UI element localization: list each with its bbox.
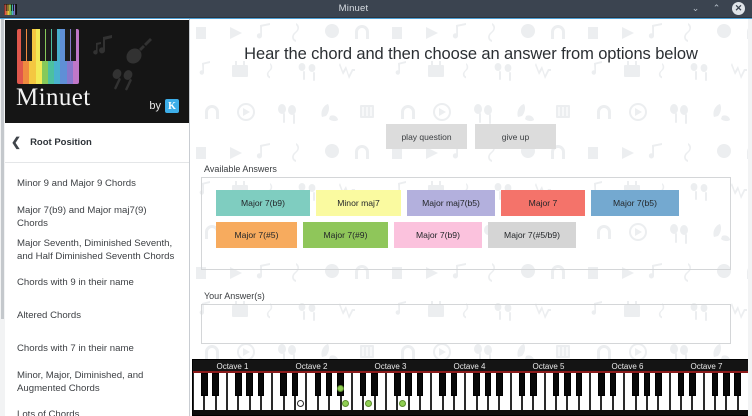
piano-black-key-G#4[interactable]: [485, 373, 492, 396]
piano-black-key-G#2[interactable]: [326, 373, 333, 396]
window-titlebar: Minuet ⌄ ⌃ ✕: [0, 0, 752, 18]
piano-black-key-C#5[interactable]: [519, 373, 526, 396]
piano-black-key-A#6[interactable]: [655, 373, 662, 396]
sidebar-item-label: Major 7(b9) and Major maj7(9) Chords: [17, 204, 178, 230]
octave-label-2: Octave 2: [272, 361, 351, 372]
piano-note-marker-E2: [297, 400, 304, 407]
answer-option-major-7-b5[interactable]: Major 7(b5): [591, 190, 679, 216]
answer-option-major-7-sharp5[interactable]: Major 7(#5): [216, 222, 297, 248]
octave-label-6: Octave 6: [588, 361, 667, 372]
piano-black-key-C#2[interactable]: [280, 373, 287, 396]
answer-option-major-7-b9[interactable]: Major 7(b9): [216, 190, 310, 216]
sidebar-item-label: Major Seventh, Diminished Seventh, and H…: [17, 237, 178, 263]
your-answers-label: Your Answer(s): [204, 291, 265, 301]
sidebar-logo-header: Minuet by K: [5, 20, 189, 123]
piano-black-key-C#6[interactable]: [598, 373, 605, 396]
sidebar-item-minor-major-dim-aug[interactable]: Minor, Major, Diminished, and Augmented …: [5, 365, 190, 398]
breadcrumb-label: Root Position: [30, 137, 92, 148]
piano-note-marker-G3: [399, 400, 406, 407]
sidebar-item-chords-with-9[interactable]: Chords with 9 in their name: [5, 266, 190, 299]
sidebar-item-lots-of-chords[interactable]: Lots of Chords: [5, 398, 190, 416]
answer-option-major-7[interactable]: Major 7: [501, 190, 585, 216]
answer-option-major-7-sharp9[interactable]: Major 7(#9): [303, 222, 388, 248]
piano-black-key-F#2[interactable]: [315, 373, 322, 396]
sidebar-item-label: Chords with 7 in their name: [17, 342, 134, 355]
sidebar-item-label: Lots of Chords: [17, 408, 79, 416]
by-kde-credit: by K: [149, 99, 179, 113]
your-answers-value: [202, 305, 730, 317]
piano-black-key-D#5[interactable]: [530, 373, 537, 396]
piano-black-key-F#1[interactable]: [235, 373, 242, 396]
piano-black-key-C#3[interactable]: [360, 373, 367, 396]
play-question-button[interactable]: play question: [386, 124, 467, 149]
piano-black-key-G#3[interactable]: [405, 373, 412, 396]
piano-black-key-D#7[interactable]: [689, 373, 696, 396]
piano-black-key-D#6[interactable]: [610, 373, 617, 396]
piano-black-key-F#5[interactable]: [553, 373, 560, 396]
rainbow-piano-logo-icon: [17, 29, 79, 84]
piano-note-marker-D3: [365, 400, 372, 407]
window-body: Minuet by K ❮ Root Position Minor 9 and …: [0, 18, 752, 416]
piano-black-key-F#4[interactable]: [473, 373, 480, 396]
maximize-icon[interactable]: ⌃: [711, 3, 722, 14]
answer-option-minor-maj7[interactable]: Minor maj7: [316, 190, 401, 216]
by-label: by: [149, 100, 161, 112]
sidebar: Minuet by K ❮ Root Position Minor 9 and …: [0, 19, 190, 416]
sidebar-item-label: Altered Chords: [17, 309, 81, 322]
minimize-icon[interactable]: ⌄: [690, 3, 701, 14]
minuet-app-window: Minuet ⌄ ⌃ ✕: [0, 0, 752, 416]
piano-black-key-F#6[interactable]: [632, 373, 639, 396]
piano-black-key-A#3[interactable]: [417, 373, 424, 396]
window-title: Minuet: [17, 0, 690, 18]
piano-black-key-G#5[interactable]: [564, 373, 571, 396]
octave-label-4: Octave 4: [430, 361, 509, 372]
music-note-icon: [93, 34, 119, 60]
sidebar-exercise-list: Minor 9 and Major 9 Chords Major 7(b9) a…: [5, 166, 190, 416]
piano-black-key-G#1[interactable]: [246, 373, 253, 396]
page-title: Hear the chord and then choose an answer…: [190, 45, 752, 64]
octave-label-bar: Octave 1 Octave 2 Octave 3 Octave 4 Octa…: [193, 360, 749, 373]
piano-base: [193, 410, 749, 415]
your-answers-panel[interactable]: [201, 304, 731, 344]
piano-note-marker-A#2: [337, 385, 344, 392]
answer-option-major-7-b9-2[interactable]: Major 7(b9): [394, 222, 482, 248]
sidebar-item-label: Minor 9 and Major 9 Chords: [17, 177, 136, 190]
answer-option-major-maj7-b5[interactable]: Major maj7(b5): [407, 190, 495, 216]
close-icon[interactable]: ✕: [732, 2, 745, 15]
piano-black-key-A#5[interactable]: [576, 373, 583, 396]
sidebar-item-minor9-major9[interactable]: Minor 9 and Major 9 Chords: [5, 166, 190, 200]
piano-black-key-C#1[interactable]: [201, 373, 208, 396]
piano-black-key-F#3[interactable]: [394, 373, 401, 396]
answers-row: Major 7(#5) Major 7(#9) Major 7(b9) Majo…: [216, 222, 722, 248]
question-controls: play question give up: [190, 124, 752, 149]
piano-keyboard[interactable]: Octave 1 Octave 2 Octave 3 Octave 4 Octa…: [192, 359, 750, 416]
chevron-left-icon[interactable]: ❮: [11, 136, 21, 148]
octave-label-7: Octave 7: [667, 361, 746, 372]
sidebar-item-major-seventh-dim[interactable]: Major Seventh, Diminished Seventh, and H…: [5, 233, 190, 266]
main-scrollbar[interactable]: [748, 19, 752, 416]
piano-black-key-G#6[interactable]: [644, 373, 651, 396]
piano-black-key-C#7[interactable]: [678, 373, 685, 396]
available-answers-label: Available Answers: [204, 164, 277, 174]
answers-row: Major 7(b9) Minor maj7 Major maj7(b5) Ma…: [216, 190, 722, 216]
app-wordmark: Minuet: [16, 84, 91, 112]
octave-label-5: Octave 5: [509, 361, 588, 372]
kde-logo-icon: K: [165, 99, 179, 113]
sidebar-item-label: Minor, Major, Diminished, and Augmented …: [17, 369, 178, 395]
piano-black-key-C#4[interactable]: [439, 373, 446, 396]
sidebar-item-altered-chords[interactable]: Altered Chords: [5, 299, 190, 332]
piano-black-key-D#3[interactable]: [371, 373, 378, 396]
give-up-button[interactable]: give up: [475, 124, 556, 149]
available-answers-panel: Major 7(b9) Minor maj7 Major maj7(b5) Ma…: [201, 177, 731, 270]
breadcrumb[interactable]: ❮ Root Position: [5, 131, 189, 153]
piano-black-key-A#1[interactable]: [258, 373, 265, 396]
piano-black-key-F#7[interactable]: [712, 373, 719, 396]
sidebar-item-label: Chords with 9 in their name: [17, 276, 134, 289]
sidebar-item-chords-with-7[interactable]: Chords with 7 in their name: [5, 332, 190, 365]
piano-black-key-D#4[interactable]: [451, 373, 458, 396]
maracas-icon: [111, 68, 137, 92]
answer-option-major-7-sharp5-b9[interactable]: Major 7(#5/b9): [488, 222, 576, 248]
piano-black-key-A#7[interactable]: [734, 373, 741, 396]
piano-keys[interactable]: [193, 373, 749, 411]
piano-black-key-D#1[interactable]: [212, 373, 219, 396]
piano-black-key-A#4[interactable]: [496, 373, 503, 396]
answers-grid: Major 7(b9) Minor maj7 Major maj7(b5) Ma…: [216, 190, 722, 248]
piano-black-key-G#7[interactable]: [723, 373, 730, 396]
minuet-app-icon: [4, 3, 17, 15]
octave-label-3: Octave 3: [351, 361, 430, 372]
guitar-icon: [125, 37, 153, 65]
sidebar-item-major7b9[interactable]: Major 7(b9) and Major maj7(9) Chords: [5, 200, 190, 233]
main-panel: Hear the chord and then choose an answer…: [190, 19, 752, 416]
piano-black-key-D#2[interactable]: [292, 373, 299, 396]
octave-label-1: Octave 1: [193, 361, 272, 372]
sidebar-divider: [5, 162, 190, 163]
